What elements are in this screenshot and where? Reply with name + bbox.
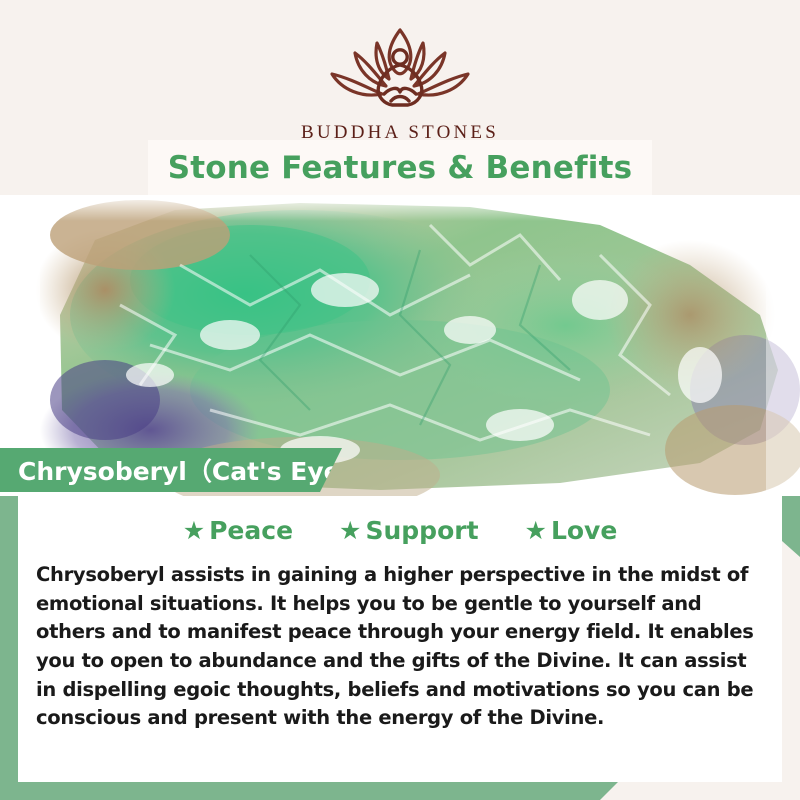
lotus-meditation-icon [316, 22, 484, 118]
benefit-label: Peace [209, 516, 293, 545]
stone-name-banner: Chrysoberyl（Cat's Eye） [0, 448, 342, 492]
benefit-peace: ★ Peace [183, 516, 293, 545]
page-title: Stone Features & Benefits [168, 150, 633, 186]
stone-description: Chrysoberyl assists in gaining a higher … [36, 561, 764, 733]
benefit-label: Support [365, 516, 478, 545]
title-band: Stone Features & Benefits [148, 140, 652, 195]
stone-info-poster: BUDDHA STONES Stone Features & Benefits [0, 0, 800, 800]
benefit-love: ★ Love [525, 516, 618, 545]
brand-logo: BUDDHA STONES [0, 22, 800, 144]
benefit-support: ★ Support [339, 516, 478, 545]
star-icon: ★ [339, 518, 361, 543]
frame-bottom-band [0, 782, 618, 800]
benefit-label: Love [551, 516, 617, 545]
star-icon: ★ [183, 518, 205, 543]
content-card: ★ Peace ★ Support ★ Love Chrysoberyl ass… [18, 496, 782, 782]
stone-name: Chrysoberyl（Cat's Eye） [0, 452, 366, 488]
benefits-row: ★ Peace ★ Support ★ Love [18, 496, 782, 545]
star-icon: ★ [525, 518, 547, 543]
